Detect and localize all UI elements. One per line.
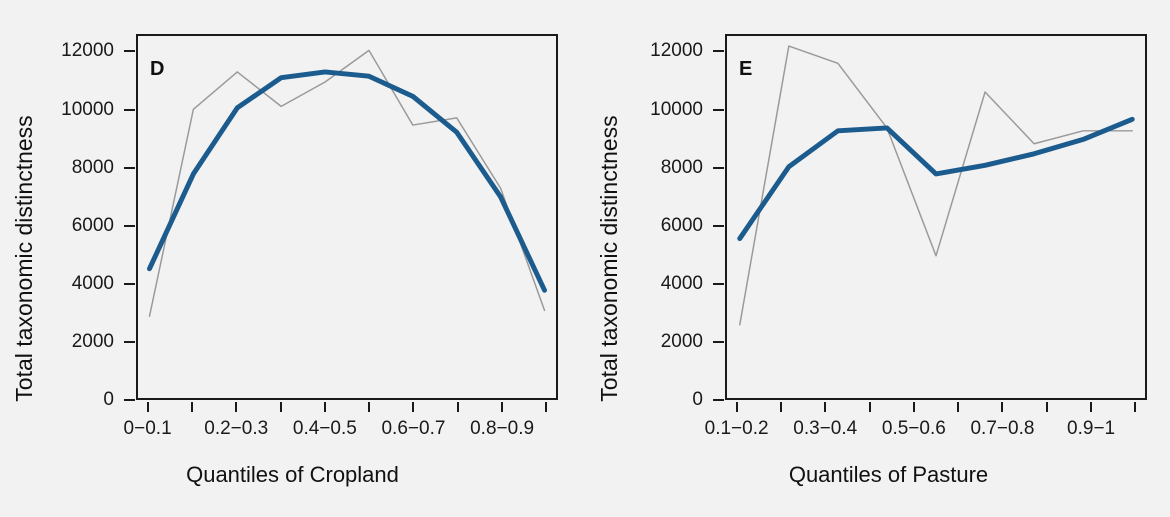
x-tick-label: 0.8−0.9 <box>470 418 534 440</box>
x-tick-label: 0−0.1 <box>124 418 172 440</box>
x-tick-label: 0.9−1 <box>1067 418 1115 440</box>
y-tick-label: 12000 <box>603 40 703 62</box>
x-tick-mark <box>1134 402 1136 412</box>
plot-lines-d <box>138 36 556 398</box>
y-tick-label: 4000 <box>603 273 703 295</box>
y-tick-mark <box>713 109 724 111</box>
x-tick-mark <box>1001 402 1003 412</box>
x-tick-mark <box>1090 402 1092 412</box>
y-tick-label: 6000 <box>14 215 114 237</box>
y-tick-mark <box>713 167 724 169</box>
y-tick-mark <box>124 167 135 169</box>
x-tick-label: 0.6−0.7 <box>381 418 445 440</box>
x-tick-mark <box>957 402 959 412</box>
x-tick-label: 0.4−0.5 <box>293 418 357 440</box>
x-tick-mark <box>412 402 414 412</box>
y-tick-mark <box>124 341 135 343</box>
figure-two-panel-line-charts: Total taxonomic distinctness D 120001000… <box>0 0 1170 517</box>
y-tick-label: 10000 <box>14 99 114 121</box>
panel-d: Total taxonomic distinctness D 120001000… <box>0 0 585 517</box>
y-tick-mark <box>713 341 724 343</box>
series-line-observed <box>740 46 1132 325</box>
y-tick-label: 0 <box>603 389 703 411</box>
y-tick-label: 8000 <box>603 157 703 179</box>
y-tick-mark <box>124 399 135 401</box>
y-tick-mark <box>124 283 135 285</box>
x-axis-title-d: Quantiles of Cropland <box>0 462 585 488</box>
x-tick-mark <box>147 402 149 412</box>
plot-area-e: E <box>725 34 1147 400</box>
x-tick-mark <box>1046 402 1048 412</box>
y-axis-title-e: Total taxonomic distinctness <box>585 0 633 517</box>
x-tick-mark <box>913 402 915 412</box>
panel-label-e: E <box>739 58 752 81</box>
y-tick-mark <box>713 225 724 227</box>
x-tick-mark <box>824 402 826 412</box>
x-axis-title-e: Quantiles of Pasture <box>585 462 1170 488</box>
x-tick-mark <box>324 402 326 412</box>
x-tick-label: 0.7−0.8 <box>970 418 1034 440</box>
y-tick-label: 12000 <box>14 40 114 62</box>
x-tick-mark <box>457 402 459 412</box>
y-tick-label: 2000 <box>603 331 703 353</box>
series-line-observed <box>149 50 544 316</box>
x-tick-label: 0.2−0.3 <box>204 418 268 440</box>
x-tick-label: 0.1−0.2 <box>705 418 769 440</box>
y-tick-label: 8000 <box>14 157 114 179</box>
y-tick-label: 2000 <box>14 331 114 353</box>
y-tick-mark <box>124 50 135 52</box>
y-tick-label: 6000 <box>603 215 703 237</box>
x-tick-mark <box>545 402 547 412</box>
series-line-fitted <box>740 119 1132 238</box>
plot-lines-e <box>727 36 1145 398</box>
panel-e: Total taxonomic distinctness E 120001000… <box>585 0 1170 517</box>
x-tick-mark <box>280 402 282 412</box>
y-tick-mark <box>124 225 135 227</box>
x-tick-mark <box>368 402 370 412</box>
y-tick-mark <box>713 283 724 285</box>
y-tick-label: 4000 <box>14 273 114 295</box>
panel-label-d: D <box>150 58 164 81</box>
series-line-fitted <box>149 72 544 290</box>
y-axis-title-d: Total taxonomic distinctness <box>0 0 48 517</box>
y-tick-label: 10000 <box>603 99 703 121</box>
x-tick-mark <box>780 402 782 412</box>
y-tick-mark <box>124 109 135 111</box>
x-tick-label: 0.3−0.4 <box>793 418 857 440</box>
x-tick-mark <box>235 402 237 412</box>
plot-area-d: D <box>136 34 558 400</box>
x-tick-mark <box>501 402 503 412</box>
x-tick-mark <box>736 402 738 412</box>
x-tick-mark <box>869 402 871 412</box>
y-tick-mark <box>713 50 724 52</box>
x-tick-label: 0.5−0.6 <box>882 418 946 440</box>
x-tick-mark <box>191 402 193 412</box>
y-tick-mark <box>713 399 724 401</box>
y-tick-label: 0 <box>14 389 114 411</box>
